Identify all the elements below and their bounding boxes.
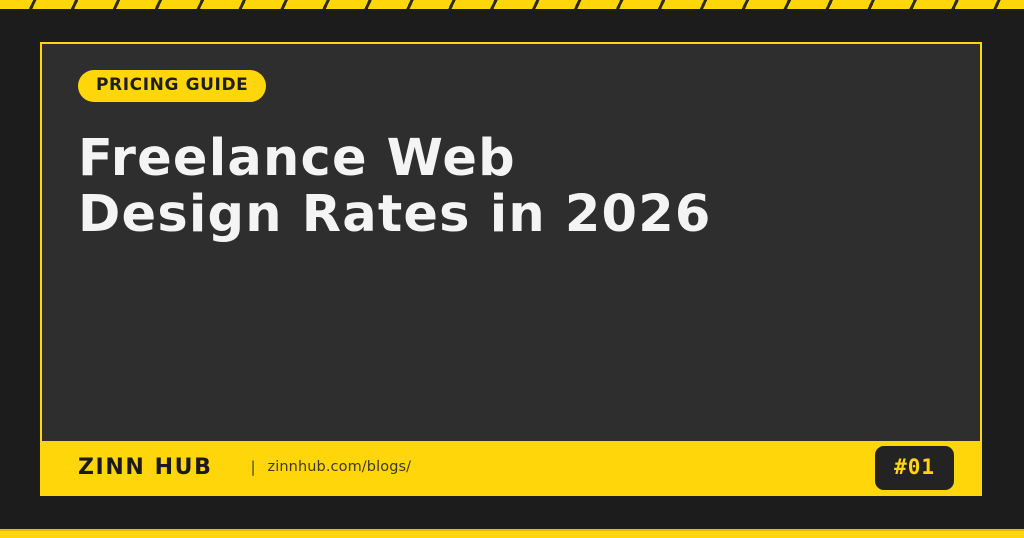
card-footer: ZINN HUB | zinnhub.com/blogs/ #01: [42, 441, 980, 494]
category-badge: PRICING GUIDE: [78, 70, 266, 102]
site-url: zinnhub.com/blogs/: [268, 460, 412, 475]
cover-card: PRICING GUIDE Freelance Web Design Rates…: [40, 42, 982, 496]
brand-name: ZINN HUB: [78, 457, 212, 479]
slide-number-badge: #01: [875, 446, 954, 490]
hazard-stripe-top: [0, 0, 1024, 9]
cover-card-page: { "theme": { "accent": "#FFD60A", "card_…: [0, 0, 1024, 538]
page-title: Freelance Web Design Rates in 2026: [78, 131, 718, 243]
card-body: PRICING GUIDE Freelance Web Design Rates…: [42, 44, 980, 441]
footer-separator: |: [250, 460, 255, 475]
hazard-stripe-bottom: [0, 529, 1024, 538]
